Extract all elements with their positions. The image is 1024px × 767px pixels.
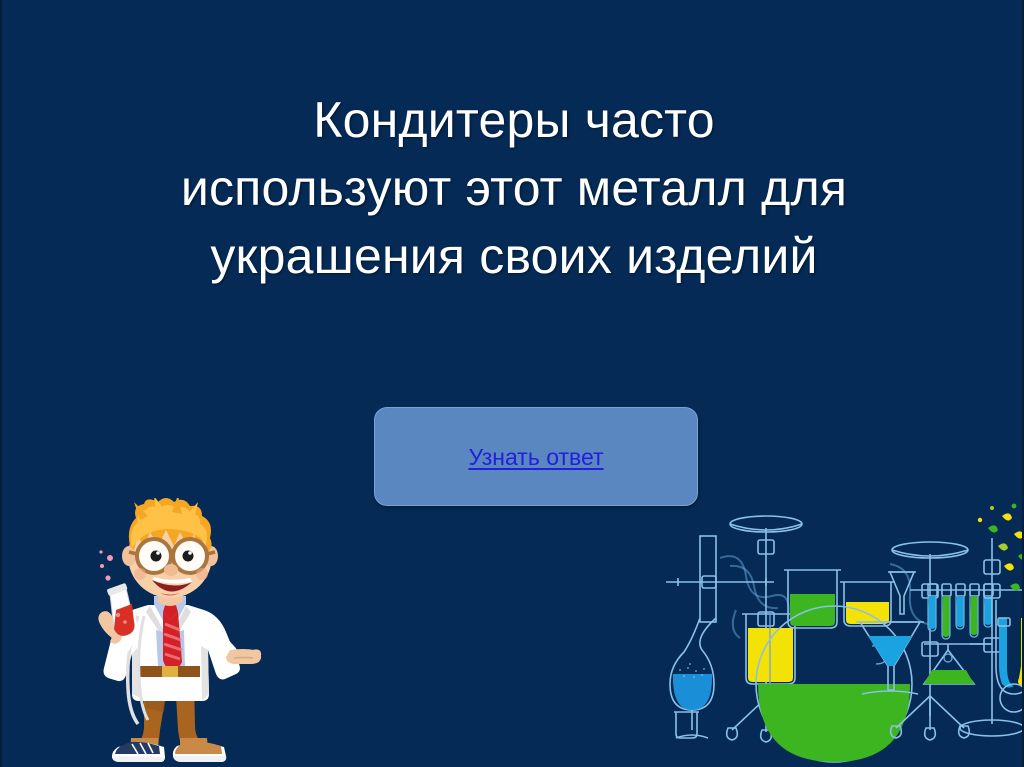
- balance-pan: [924, 644, 992, 684]
- separatory-funnel-blue: [856, 622, 924, 694]
- u-tube: [996, 600, 1024, 712]
- beaker-yellow-small: [840, 582, 895, 626]
- retort-stand-far-right: [960, 538, 1024, 736]
- title-line-2: используют этот металл для: [102, 154, 926, 222]
- reveal-answer-link[interactable]: Узнать ответ: [468, 444, 603, 470]
- floating-particles: [978, 504, 1024, 591]
- lab-glassware-illustration: .ln { fill:none; stroke:#8cc0e8; stroke-…: [662, 498, 1024, 767]
- title-line-1: Кондитеры часто: [102, 86, 926, 154]
- small-beaker: [674, 712, 699, 738]
- beaker-green: [784, 570, 841, 628]
- beaker-yellow-large: [742, 614, 799, 684]
- slide-canvas: Кондитеры часто используют этот металл д…: [0, 0, 1024, 767]
- page-title: Кондитеры часто используют этот металл д…: [102, 86, 926, 290]
- title-line-3: украшения своих изделий: [102, 222, 926, 290]
- scientist-character-image: [74, 498, 266, 764]
- scientist-figure: [98, 498, 261, 762]
- reveal-answer-button[interactable]: Узнать ответ: [374, 407, 698, 506]
